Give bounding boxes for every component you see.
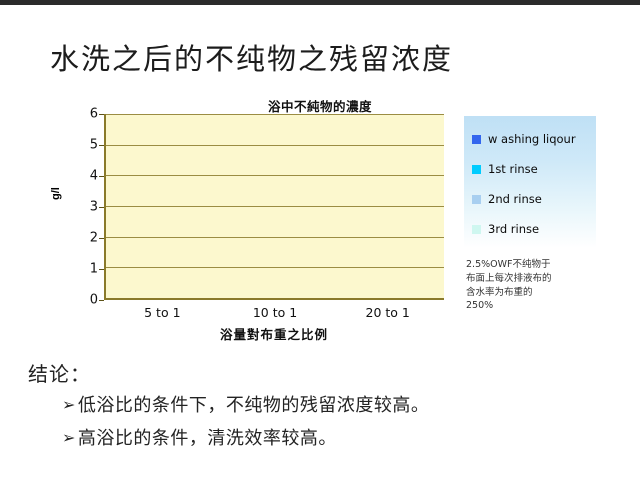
x-tick-label: 5 to 1 <box>106 305 219 320</box>
legend-label: 3rd rinse <box>488 222 539 236</box>
y-axis-label: g/l <box>50 187 62 200</box>
chart-note: 2.5%OWF不纯物于布面上每次排液布的含水率为布重的250% <box>466 258 606 313</box>
y-tick-mark <box>99 176 104 177</box>
conclusion-text: 低浴比的条件下，不纯物的残留浓度较高。 <box>78 395 430 418</box>
slide-canvas: 水洗之后的不纯物之残留浓度 浴中不純物的濃度 g/l 5 to 110 to 1… <box>0 0 640 483</box>
note-line: 布面上每次排液布的 <box>466 272 606 286</box>
chart-legend: w ashing liqour1st rinse2nd rinse3rd rin… <box>464 116 596 248</box>
y-tick-label: 0 <box>90 294 98 307</box>
bar-group: 20 to 1 <box>331 114 444 298</box>
conclusion-item: ➢低浴比的条件下，不纯物的残留浓度较高。 <box>62 395 618 418</box>
chart-title: 浴中不純物的濃度 <box>170 96 470 115</box>
legend-swatch <box>472 165 481 174</box>
page-title: 水洗之后的不纯物之残留浓度 <box>50 36 510 78</box>
x-tick-label: 20 to 1 <box>331 305 444 320</box>
conclusion-item: ➢高浴比的条件，清洗效率较高。 <box>62 428 618 451</box>
bar-groups: 5 to 110 to 120 to 1 <box>106 114 444 298</box>
y-tick-label: 5 <box>90 139 98 152</box>
legend-swatch <box>472 225 481 234</box>
y-tick-mark <box>99 238 104 239</box>
conclusion-heading: 结论： <box>28 358 618 387</box>
plot-background: 5 to 110 to 120 to 1 <box>104 114 444 300</box>
bar-group: 5 to 1 <box>106 114 219 298</box>
legend-item: w ashing liqour <box>472 124 590 154</box>
note-line: 含水率为布重的 <box>466 286 606 300</box>
note-line: 2.5%OWF不纯物于 <box>466 258 606 272</box>
bullet-arrow-icon: ➢ <box>62 395 76 415</box>
bar-set <box>340 114 435 298</box>
y-tick-mark <box>99 114 104 115</box>
note-line: 250% <box>466 299 606 313</box>
legend-item: 1st rinse <box>472 154 590 184</box>
legend-item: 2nd rinse <box>472 184 590 214</box>
conclusion-block: 结论： ➢低浴比的条件下，不纯物的残留浓度较高。➢高浴比的条件，清洗效率较高。 <box>28 358 618 460</box>
x-tick-label: 10 to 1 <box>219 305 332 320</box>
bar-set <box>115 114 210 298</box>
bar-set <box>228 114 323 298</box>
y-tick-label: 4 <box>90 170 98 183</box>
y-tick-label: 3 <box>90 201 98 214</box>
y-tick-mark <box>99 300 104 301</box>
y-tick-mark <box>99 207 104 208</box>
top-border-bar <box>0 0 640 5</box>
legend-label: 2nd rinse <box>488 192 542 206</box>
legend-label: 1st rinse <box>488 162 538 176</box>
bar-chart: 浴中不純物的濃度 g/l 5 to 110 to 120 to 1 012345… <box>60 96 580 356</box>
bar-group: 10 to 1 <box>219 114 332 298</box>
legend-swatch <box>472 135 481 144</box>
y-tick-label: 6 <box>90 108 98 121</box>
y-tick-label: 1 <box>90 263 98 276</box>
bullet-arrow-icon: ➢ <box>62 428 76 448</box>
plot-area: 5 to 110 to 120 to 1 0123456 <box>104 114 444 300</box>
y-tick-mark <box>99 269 104 270</box>
x-axis-label: 浴量對布重之比例 <box>104 324 444 343</box>
y-tick-label: 2 <box>90 232 98 245</box>
y-tick-mark <box>99 145 104 146</box>
conclusion-list: ➢低浴比的条件下，不纯物的残留浓度较高。➢高浴比的条件，清洗效率较高。 <box>28 395 618 450</box>
legend-label: w ashing liqour <box>488 132 576 146</box>
legend-swatch <box>472 195 481 204</box>
conclusion-text: 高浴比的条件，清洗效率较高。 <box>78 428 337 451</box>
legend-item: 3rd rinse <box>472 214 590 244</box>
